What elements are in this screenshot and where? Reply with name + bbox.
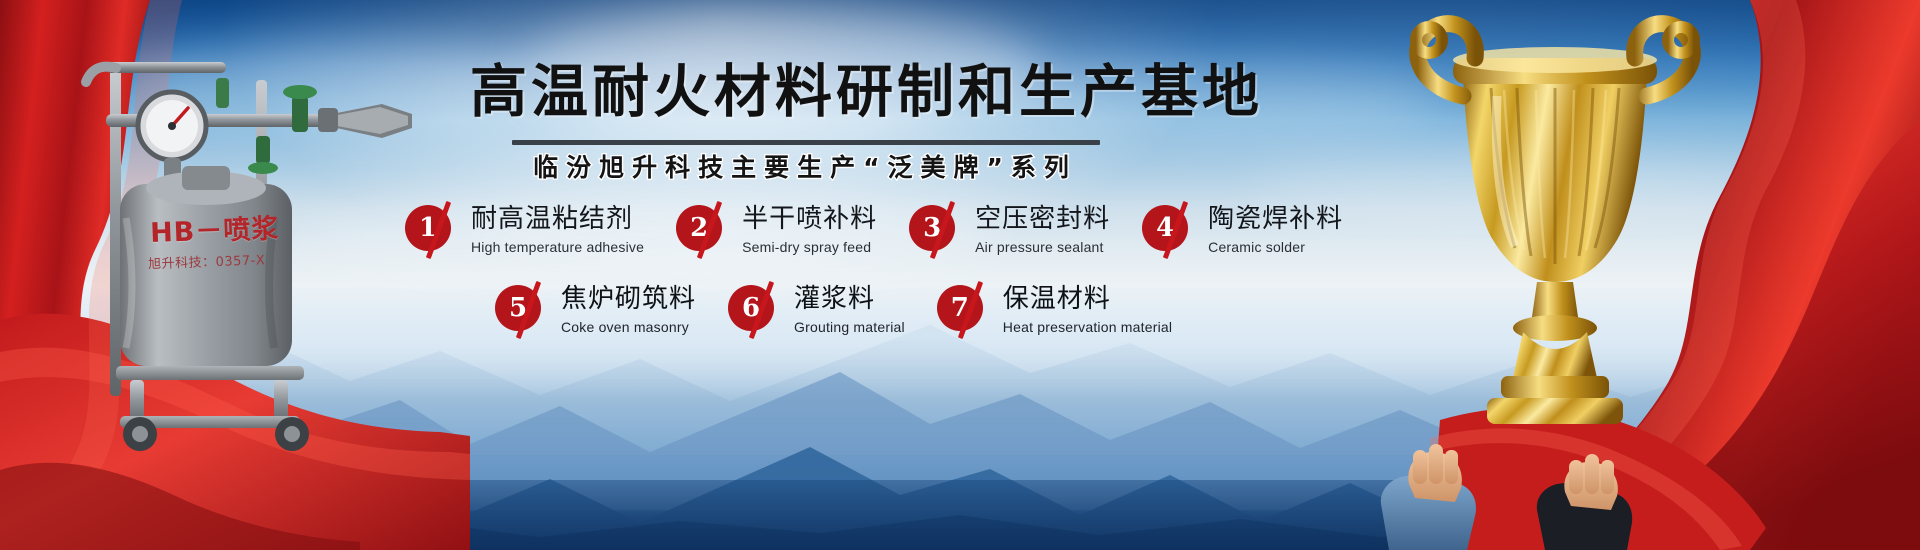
item-title-en: Heat preservation material [1003, 319, 1172, 335]
item-title-cn: 半干喷补料 [742, 205, 877, 234]
number-badge: 7 [937, 285, 999, 337]
item-title-cn: 保温材料 [1003, 285, 1172, 314]
item-labels: 空压密封料 Air pressure sealant [971, 205, 1110, 255]
list-item[interactable]: 6 灌浆料 Grouting material [728, 285, 905, 337]
item-labels: 保温材料 Heat preservation material [999, 285, 1172, 335]
banner-subtitle: 临汾旭升科技主要生产“泛美牌”系列 [470, 148, 1140, 184]
number-badge: 5 [495, 285, 557, 337]
list-item[interactable]: 7 保温材料 Heat preservation material [937, 285, 1172, 337]
item-labels: 焦炉砌筑料 Coke oven masonry [557, 285, 696, 335]
promo-banner: HB－喷浆 旭升科技：0357-X [0, 0, 1920, 550]
list-item[interactable]: 3 空压密封料 Air pressure sealant [909, 205, 1110, 257]
list-item[interactable]: 5 焦炉砌筑料 Coke oven masonry [495, 285, 696, 337]
item-title-cn: 陶瓷焊补料 [1208, 205, 1343, 234]
item-title-cn: 耐高温粘结剂 [471, 205, 644, 234]
number-badge: 2 [676, 205, 738, 257]
item-title-en: High temperature adhesive [471, 239, 644, 255]
item-labels: 耐高温粘结剂 High temperature adhesive [467, 205, 644, 255]
item-labels: 灌浆料 Grouting material [790, 285, 905, 335]
list-item[interactable]: 4 陶瓷焊补料 Ceramic solder [1142, 205, 1343, 257]
title-divider [512, 140, 1100, 145]
item-labels: 陶瓷焊补料 Ceramic solder [1204, 205, 1343, 255]
number-badge: 3 [909, 205, 971, 257]
item-title-en: Ceramic solder [1208, 239, 1343, 255]
list-item[interactable]: 2 半干喷补料 Semi-dry spray feed [676, 205, 877, 257]
banner-content: 高温耐火材料研制和生产基地 临汾旭升科技主要生产“泛美牌”系列 1 耐高温粘结剂… [0, 0, 1920, 550]
number-badge: 1 [405, 205, 467, 257]
item-labels: 半干喷补料 Semi-dry spray feed [738, 205, 877, 255]
product-row-2: 5 焦炉砌筑料 Coke oven masonry 6 [495, 285, 1204, 337]
item-title-cn: 灌浆料 [794, 285, 905, 314]
list-item[interactable]: 1 耐高温粘结剂 High temperature adhesive [405, 205, 644, 257]
item-title-en: Semi-dry spray feed [742, 239, 877, 255]
item-title-cn: 空压密封料 [975, 205, 1110, 234]
product-row-1: 1 耐高温粘结剂 High temperature adhesive 2 [405, 205, 1375, 257]
page-title: 高温耐火材料研制和生产基地 [470, 62, 1140, 124]
number-badge: 4 [1142, 205, 1204, 257]
item-title-cn: 焦炉砌筑料 [561, 285, 696, 314]
item-title-en: Air pressure sealant [975, 239, 1110, 255]
item-title-en: Grouting material [794, 319, 905, 335]
item-title-en: Coke oven masonry [561, 319, 696, 335]
number-badge: 6 [728, 285, 790, 337]
